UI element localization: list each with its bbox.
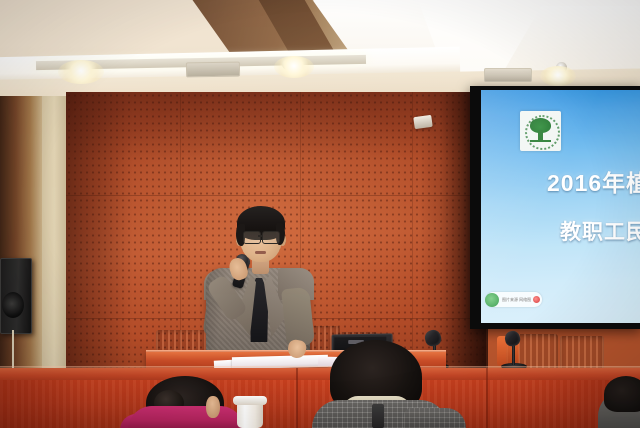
wood-panel-seam [66, 195, 486, 196]
audience-member-torso [128, 406, 244, 428]
glasses-icon [262, 231, 280, 244]
table-panel-seam [486, 368, 488, 428]
conference-hall-photo: 2016年植物 教职工民 图片来源 网络图 [0, 0, 640, 428]
screen-glare [481, 90, 640, 323]
table-panel-seam [296, 368, 298, 428]
wall-bracket-icon [413, 115, 432, 129]
glasses-icon [243, 231, 261, 244]
presenter-mouth [255, 251, 266, 254]
audience-member-hand [206, 396, 220, 418]
loudspeaker-cone-icon [2, 292, 24, 318]
wood-panel-seam [412, 92, 413, 378]
ceiling-vent-icon [484, 68, 532, 82]
downlight-glow [540, 66, 576, 86]
audience-member-head [604, 376, 640, 412]
ceiling-vent-icon [186, 62, 240, 78]
downlight-glow [274, 56, 314, 78]
glasses-bridge-icon [258, 235, 263, 237]
wall-pillar [40, 96, 66, 378]
downlight-glow [58, 60, 104, 84]
audience-member-tie [372, 404, 384, 428]
wall-shadow-edge [0, 96, 42, 378]
paper-cup-lid [233, 396, 267, 405]
audience-member-shoulder [404, 408, 466, 428]
